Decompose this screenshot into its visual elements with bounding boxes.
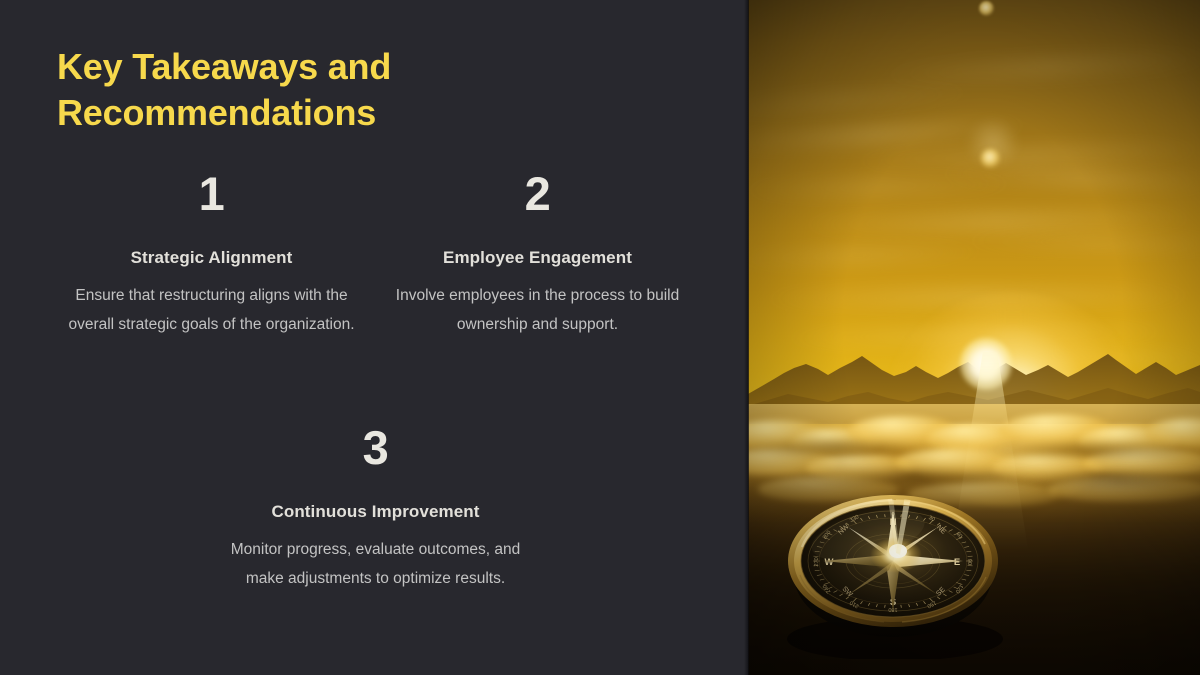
- compass-icon: 0 30 60 90 120 150 180 210 240 270 300 3…: [772, 489, 1014, 659]
- cloud-shadow: [978, 444, 1200, 456]
- svg-text:90: 90: [966, 559, 972, 565]
- content-panel: Key Takeaways and Recommendations 1 Stra…: [0, 0, 748, 675]
- takeaway-item: 3 Continuous Improvement Monitor progres…: [218, 424, 533, 593]
- svg-text:270: 270: [814, 557, 820, 567]
- takeaway-number: 1: [54, 170, 369, 217]
- lens-flare-orb: [981, 149, 1000, 168]
- sunset-compass-image: 0 30 60 90 120 150 180 210 240 270 300 3…: [748, 0, 1200, 675]
- takeaway-body: Involve employees in the process to buil…: [380, 282, 695, 339]
- slide: Key Takeaways and Recommendations 1 Stra…: [0, 0, 1200, 675]
- lens-flare-orb: [979, 1, 994, 16]
- takeaway-body: Ensure that restructuring aligns with th…: [54, 282, 369, 339]
- takeaway-item: 2 Employee Engagement Involve employees …: [380, 170, 695, 339]
- svg-text:E: E: [954, 557, 960, 568]
- takeaway-heading: Employee Engagement: [380, 248, 695, 268]
- takeaway-heading: Continuous Improvement: [218, 502, 533, 522]
- takeaway-body: Monitor progress, evaluate outcomes, and…: [218, 536, 533, 593]
- page-title: Key Takeaways and Recommendations: [57, 44, 477, 136]
- panel-divider: [744, 0, 749, 675]
- takeaway-number: 2: [380, 170, 695, 217]
- takeaway-item: 1 Strategic Alignment Ensure that restru…: [54, 170, 369, 339]
- takeaway-number: 3: [218, 424, 533, 471]
- takeaway-heading: Strategic Alignment: [54, 248, 369, 268]
